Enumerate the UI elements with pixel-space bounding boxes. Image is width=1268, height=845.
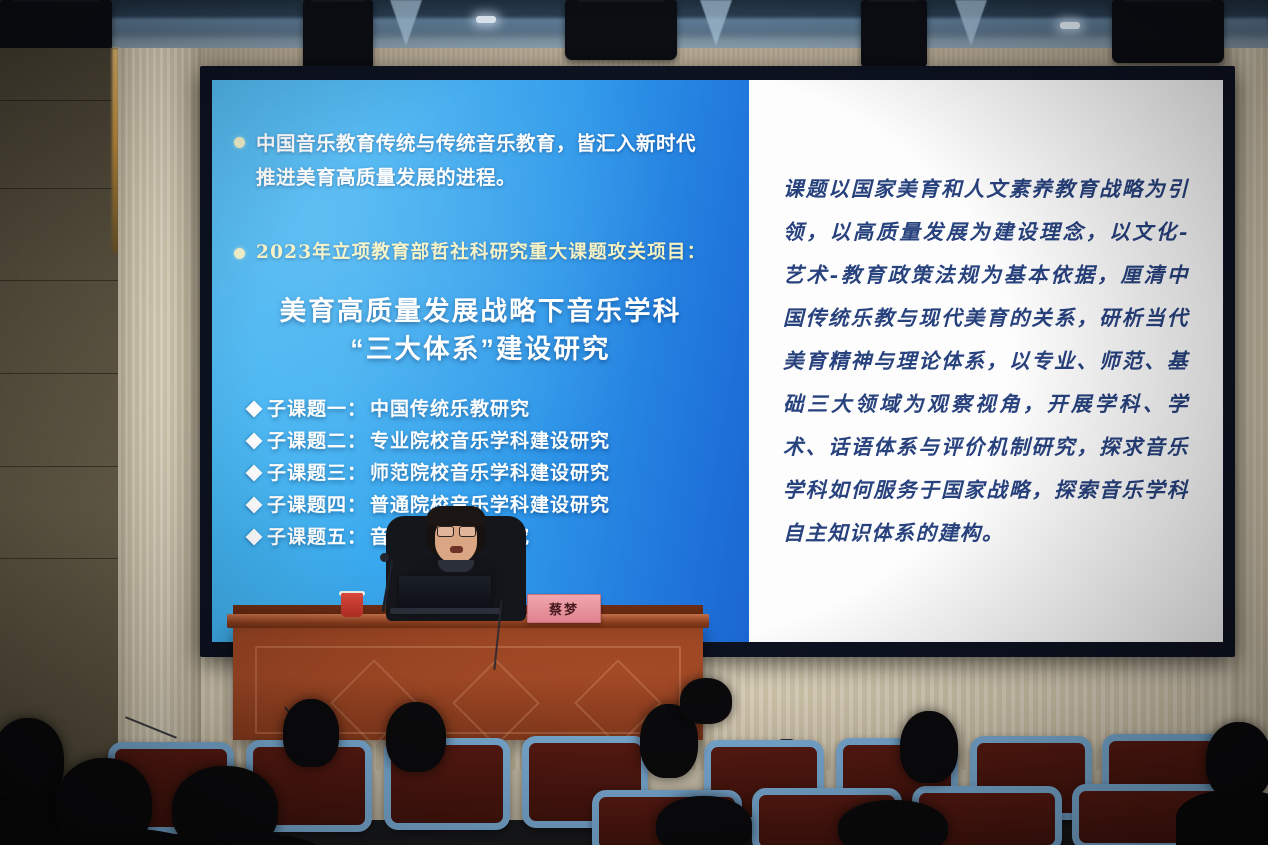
- microphone-head: [380, 553, 389, 562]
- ceiling-downlight: [1060, 22, 1080, 29]
- ceiling-fin: [955, 0, 987, 46]
- eyeglasses-icon: [437, 526, 454, 537]
- subtopic-1-text: 中国传统乐教研究: [370, 393, 530, 425]
- ceiling-fin: [390, 0, 422, 46]
- red-paper-cup: [341, 593, 363, 617]
- right-wall-wood-panel: [1232, 48, 1268, 790]
- slide-title-line-2: “三大体系”建设研究: [212, 330, 749, 368]
- subtopic-2-label: 子课题二：: [267, 425, 367, 457]
- subtopic-5-label: 子课题五：: [267, 521, 367, 553]
- bullet-1-line-2: 推进美育高质量发展的进程。: [256, 161, 696, 195]
- audience-head: [283, 699, 339, 767]
- speaker-fringe: [426, 506, 486, 526]
- diamond-bullet-icon: [246, 433, 263, 450]
- nameplate-text: 蔡梦: [549, 599, 579, 618]
- left-wall-wood-column: [118, 48, 201, 790]
- subtopic-2-text: 专业院校音乐学科建设研究: [370, 425, 610, 457]
- slide-right-panel: 课题以国家美育和人文素养教育战略为引领，以高质量发展为建设理念，以文化-艺术-教…: [749, 80, 1223, 642]
- diamond-bullet-icon: [246, 497, 263, 514]
- audience-head: [680, 678, 732, 724]
- bullet-2-line-1: 2023年立项教育部哲社科研究重大课题攻关项目：: [256, 238, 706, 268]
- subtopic-item-1: 子课题一： 中国传统乐教研究: [248, 393, 748, 425]
- audience-head: [1206, 722, 1268, 800]
- audience-head: [838, 800, 948, 845]
- diamond-bullet-icon: [246, 465, 263, 482]
- left-wall-dark-panel: [0, 48, 118, 788]
- hanging-speaker: [861, 0, 927, 69]
- audience-head: [656, 796, 752, 845]
- diamond-bullet-icon: [246, 529, 263, 546]
- subtopic-item-2: 子课题二： 专业院校音乐学科建设研究: [248, 425, 748, 457]
- dot-bullet-icon: [234, 248, 245, 259]
- speaker-mouth: [450, 546, 463, 553]
- subtopic-item-3: 子课题三： 师范院校音乐学科建设研究: [248, 457, 748, 489]
- ceiling-downlight: [476, 16, 496, 23]
- hanging-speaker: [303, 0, 373, 73]
- ceiling-fin: [700, 0, 732, 46]
- audience-head: [900, 711, 958, 783]
- laptop-base: [390, 608, 500, 614]
- dot-bullet-icon: [234, 137, 245, 148]
- subtopic-1-label: 子课题一：: [267, 393, 367, 425]
- speaker-collar: [438, 560, 474, 572]
- bullet-1-line-1: 中国音乐教育传统与传统音乐教育，皆汇入新时代: [256, 127, 696, 161]
- audience-shoulders: [1176, 790, 1268, 845]
- hanging-speaker: [1112, 0, 1224, 63]
- hanging-speaker: [565, 0, 677, 60]
- slide-bullet-2: 2023年立项教育部哲社科研究重大课题攻关项目：: [234, 238, 744, 268]
- subtopic-3-text: 师范院校音乐学科建设研究: [370, 457, 610, 489]
- diamond-bullet-icon: [246, 401, 263, 418]
- subtopic-4-label: 子课题四：: [267, 489, 367, 521]
- audience-head: [386, 702, 446, 772]
- nameplate: 蔡梦: [527, 594, 601, 623]
- laptop-screen: [399, 576, 491, 610]
- projection-screen-content: 中国音乐教育传统与传统音乐教育，皆汇入新时代 推进美育高质量发展的进程。 202…: [212, 80, 1223, 642]
- slide-bullet-1: 中国音乐教育传统与传统音乐教育，皆汇入新时代 推进美育高质量发展的进程。: [234, 127, 734, 195]
- projection-screen-bezel: 中国音乐教育传统与传统音乐教育，皆汇入新时代 推进美育高质量发展的进程。 202…: [200, 66, 1235, 657]
- subtopic-3-label: 子课题三：: [267, 457, 367, 489]
- eyeglasses-icon: [459, 526, 476, 537]
- slide-title-line-1: 美育高质量发展战略下音乐学科: [212, 292, 749, 330]
- abstract-paragraph: 课题以国家美育和人文素养教育战略为引领，以高质量发展为建设理念，以文化-艺术-教…: [749, 168, 1223, 555]
- lecture-hall-photo: 中国音乐教育传统与传统音乐教育，皆汇入新时代 推进美育高质量发展的进程。 202…: [0, 0, 1268, 845]
- slide-main-title: 美育高质量发展战略下音乐学科 “三大体系”建设研究: [212, 292, 749, 368]
